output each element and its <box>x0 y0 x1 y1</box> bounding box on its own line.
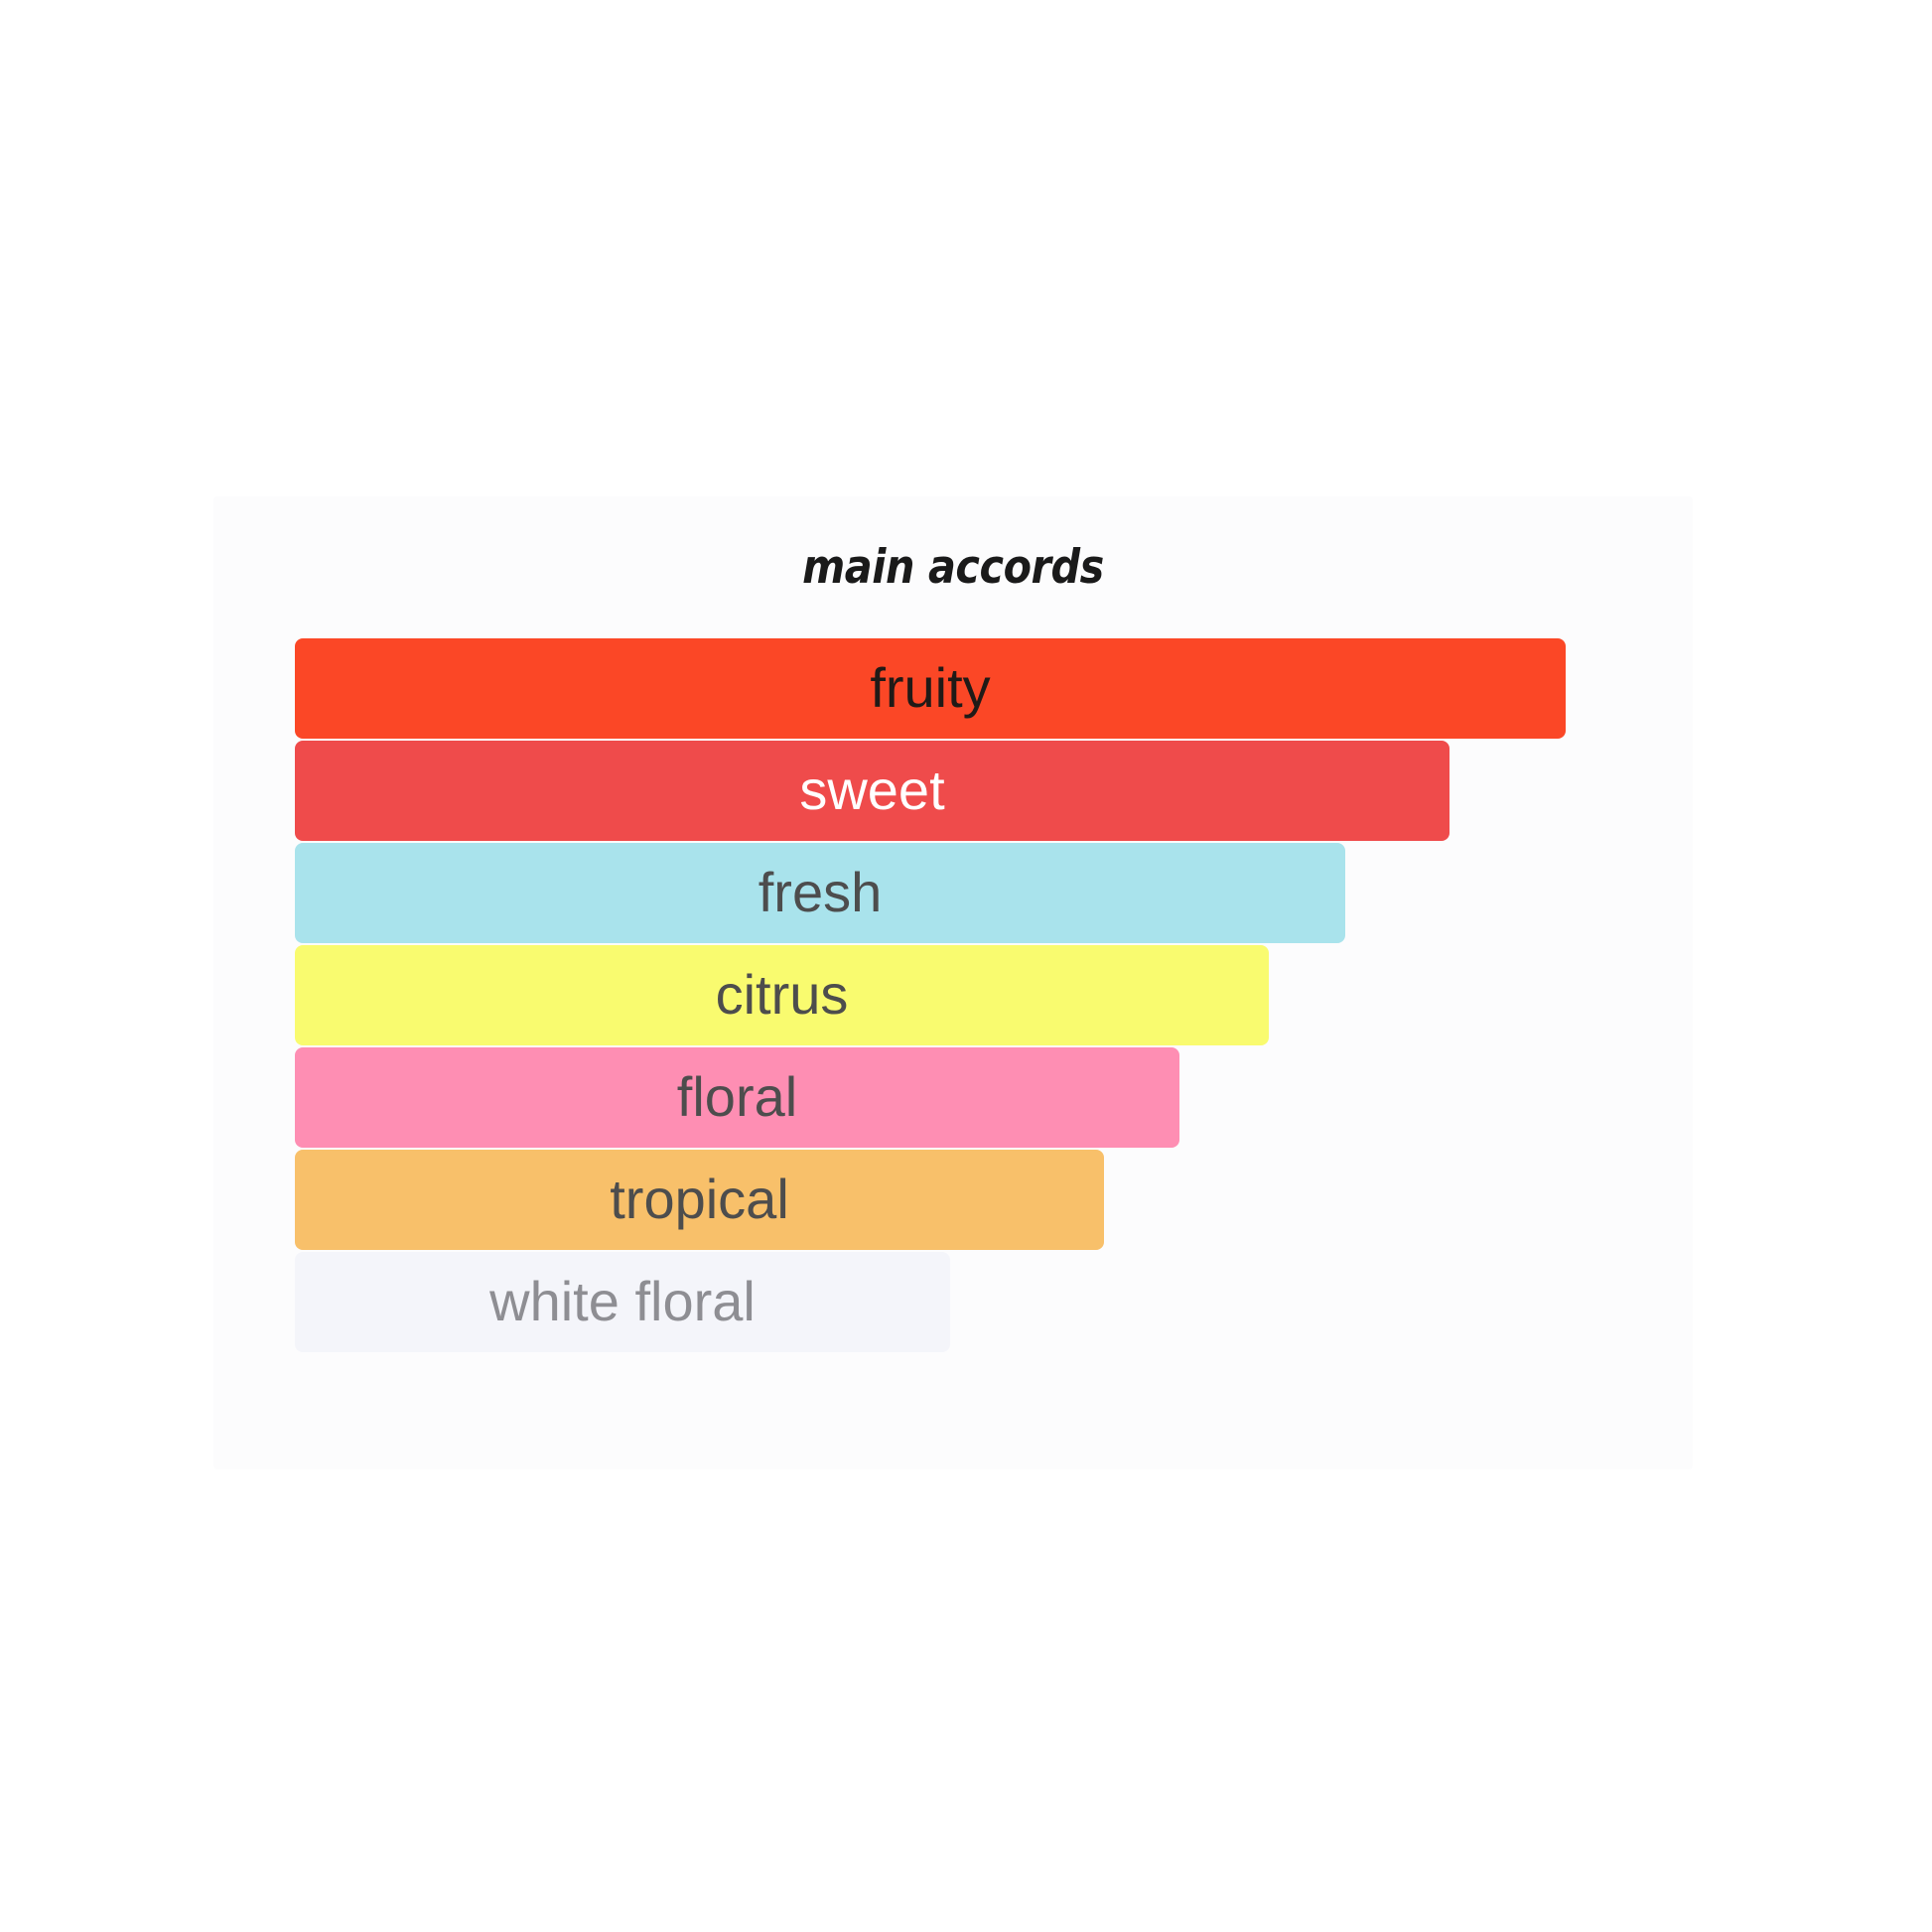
accord-bar[interactable]: sweet <box>295 741 1449 841</box>
accord-label: sweet <box>799 762 944 820</box>
accord-bar[interactable]: fruity <box>295 638 1566 739</box>
accord-label: fruity <box>870 660 990 718</box>
accord-row: fruity <box>295 638 1685 739</box>
accords-bar-list: fruitysweetfreshcitrusfloraltropicalwhit… <box>295 638 1685 1354</box>
accord-label: tropical <box>610 1172 789 1229</box>
screenshot-root: main accords fruitysweetfreshcitrusflora… <box>0 0 1932 1932</box>
main-accords-card: main accords fruitysweetfreshcitrusflora… <box>213 496 1693 1469</box>
accord-bar[interactable]: floral <box>295 1047 1179 1148</box>
accord-bar[interactable]: tropical <box>295 1150 1104 1250</box>
accord-row: sweet <box>295 741 1685 841</box>
page-title: main accords <box>302 544 1603 591</box>
accord-label: floral <box>677 1069 797 1127</box>
accord-row: citrus <box>295 945 1685 1045</box>
accord-row: white floral <box>295 1252 1685 1352</box>
accord-label: fresh <box>759 865 883 922</box>
accord-bar[interactable]: fresh <box>295 843 1345 943</box>
accord-label: white floral <box>489 1274 756 1331</box>
accord-label: citrus <box>716 967 849 1025</box>
accord-row: tropical <box>295 1150 1685 1250</box>
accord-bar[interactable]: white floral <box>295 1252 950 1352</box>
accord-bar[interactable]: citrus <box>295 945 1269 1045</box>
accord-row: fresh <box>295 843 1685 943</box>
accord-row: floral <box>295 1047 1685 1148</box>
